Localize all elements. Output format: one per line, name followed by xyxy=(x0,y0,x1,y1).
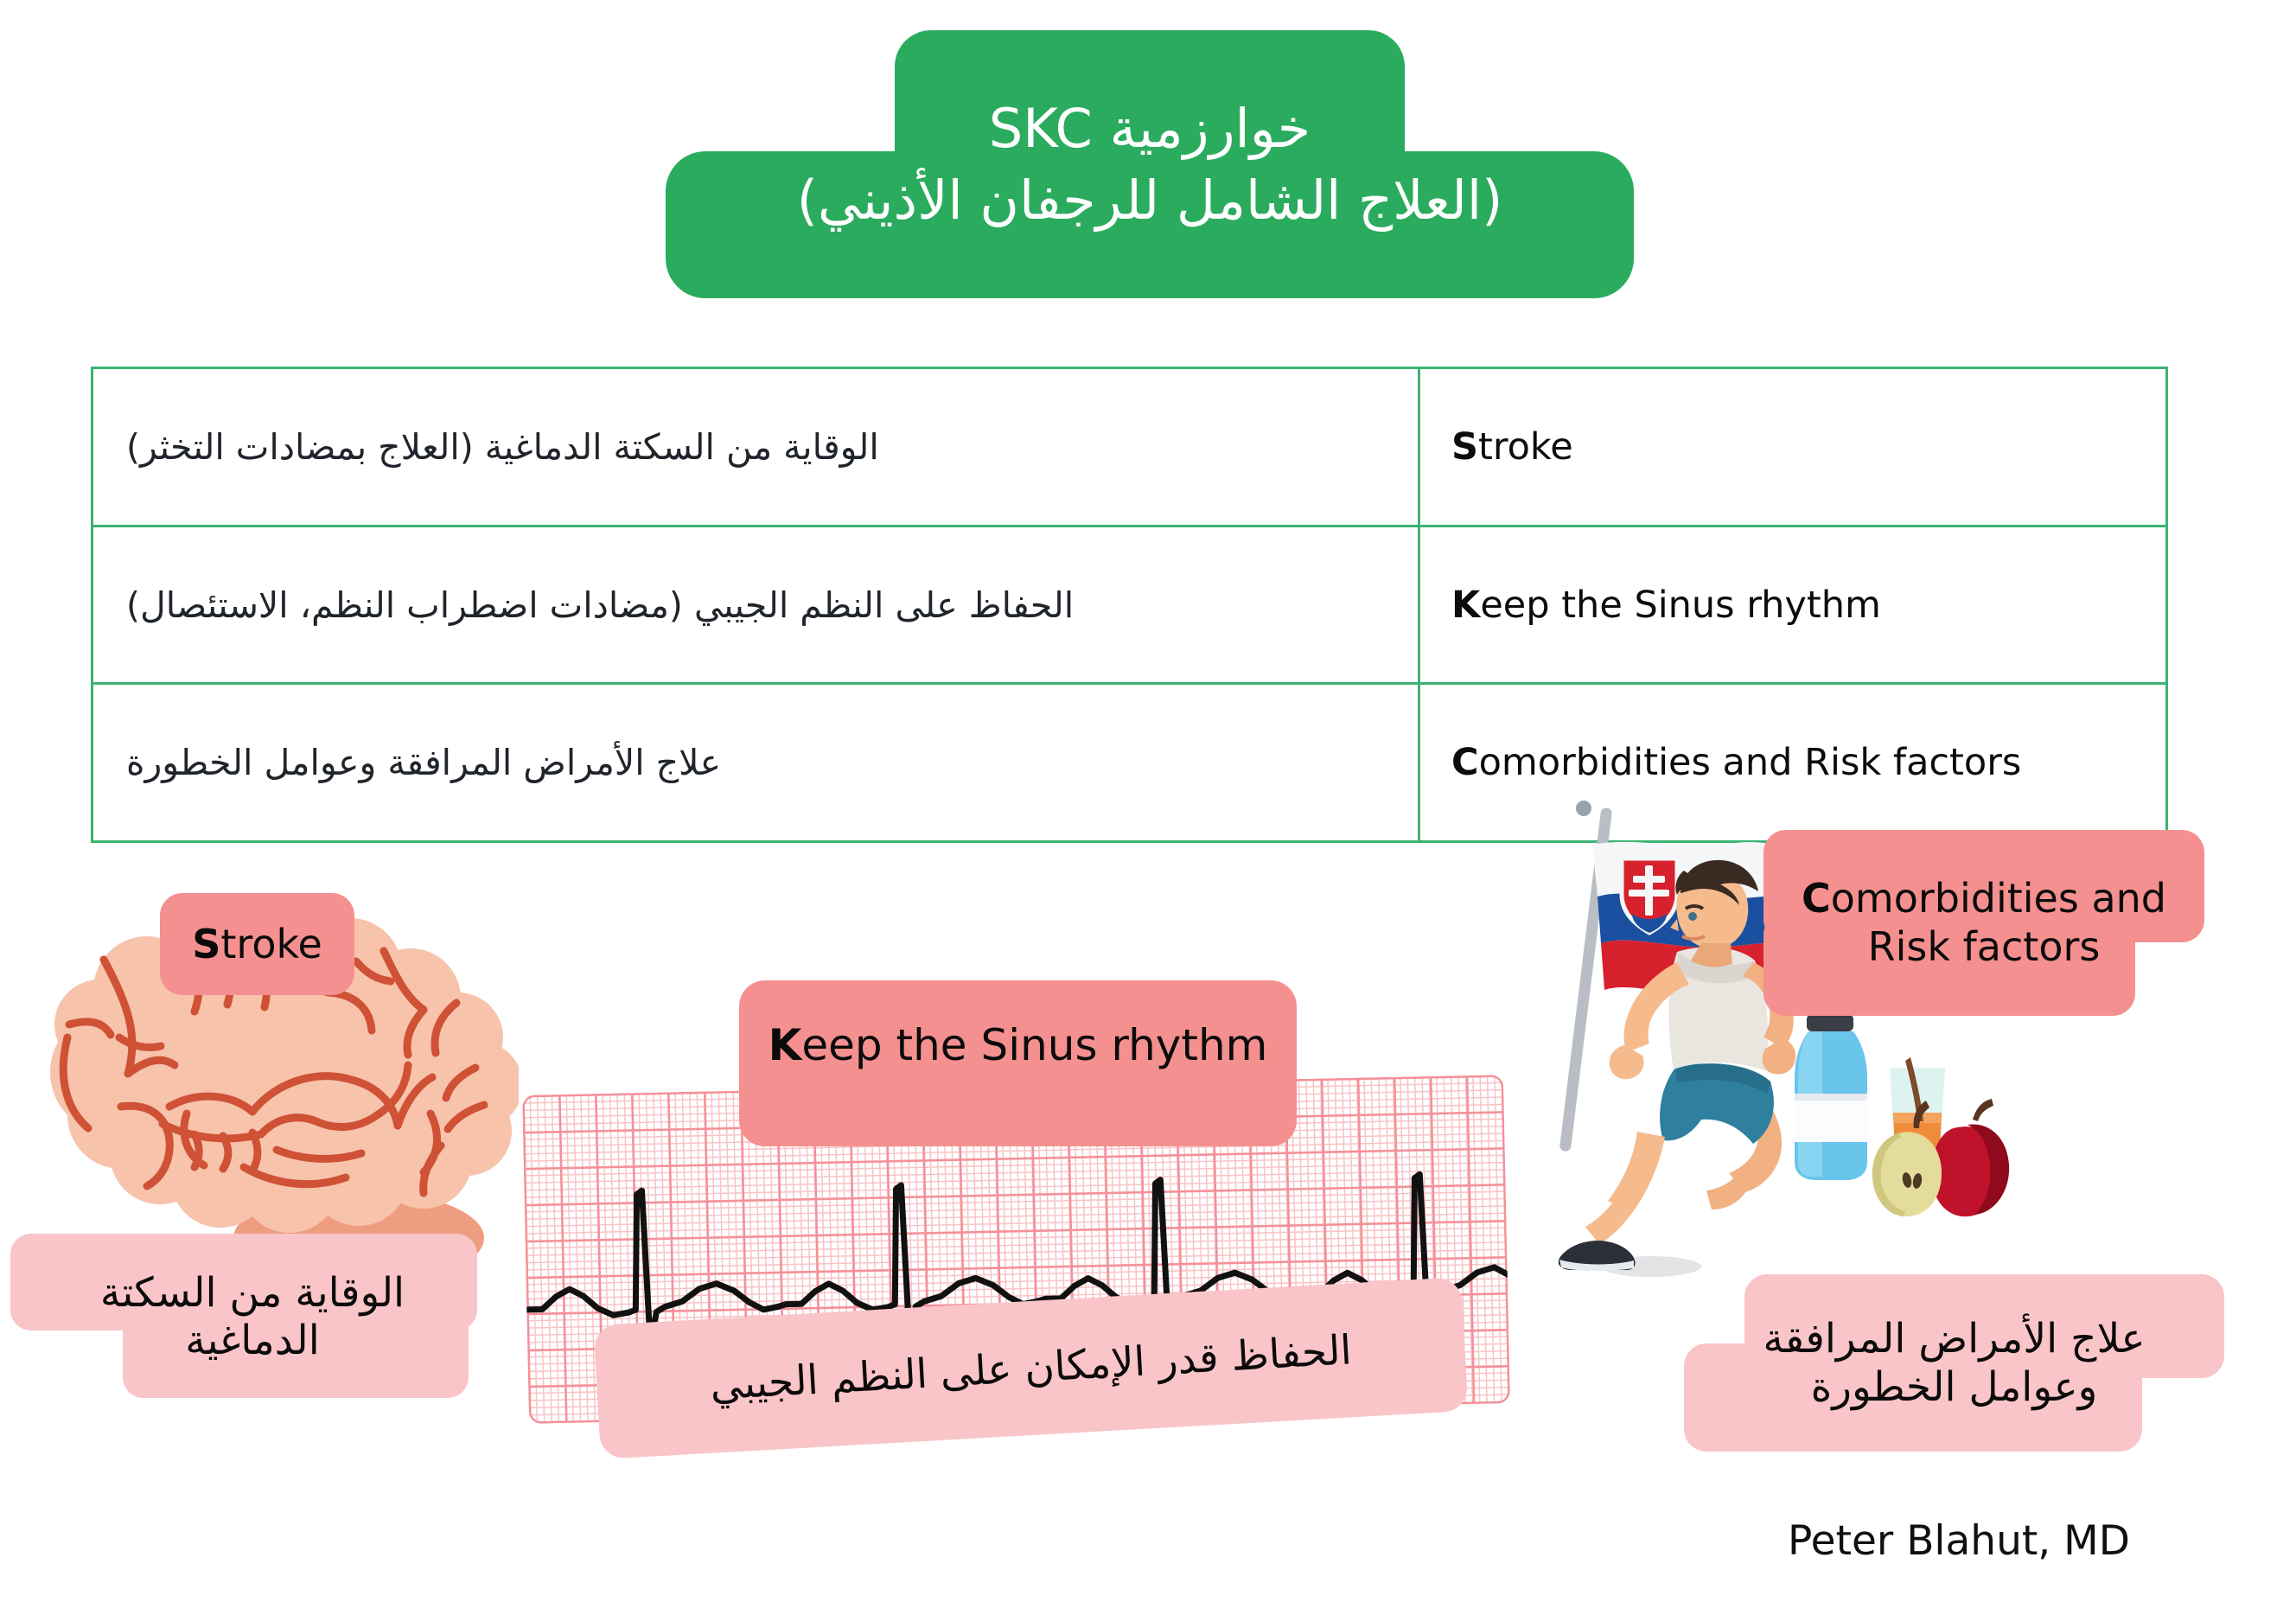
caption-text: الوقاية من السكتة الدماغية xyxy=(10,1234,494,1400)
table-cell-english: Stroke xyxy=(1420,369,2165,525)
table-cell-english-initial: C xyxy=(1451,741,1479,784)
badge-label: Stroke xyxy=(160,893,354,995)
caption-text: علاج الأمراض المرافقة وعوامل الخطورة xyxy=(1684,1274,2224,1452)
skc-legend-table: الوقاية من السكتة الدماغية (العلاج بمضاد… xyxy=(91,367,2168,843)
badge-line1: Comorbidities and xyxy=(1802,875,2166,922)
poster-canvas: خوارزمية SKC (العلاج الشامل للرجفان الأذ… xyxy=(0,0,2296,1621)
caption-line2: الدماغية xyxy=(185,1317,320,1364)
author-signature: Peter Blahut, MD xyxy=(1788,1517,2130,1565)
caption-stroke-arabic: الوقاية من السكتة الدماغية xyxy=(10,1234,494,1400)
caption-comorbidities-arabic: علاج الأمراض المرافقة وعوامل الخطورة xyxy=(1684,1274,2224,1452)
banner-text-block: خوارزمية SKC (العلاج الشامل للرجفان الأذ… xyxy=(666,30,1634,298)
table-cell-english: Keep the Sinus rhythm xyxy=(1420,527,2165,683)
badge-rest: troke xyxy=(220,921,322,967)
status-badge-sinus: Keep the Sinus rhythm xyxy=(739,980,1297,1146)
page-title-line2: (العلاج الشامل للرجفان الأذيني) xyxy=(797,167,1503,234)
table-cell-arabic: علاج الأمراض المرافقة وعوامل الخطورة xyxy=(93,685,1420,840)
badge-label: Comorbidities and Risk factors xyxy=(1763,830,2204,1016)
badge-rest: omorbidities and xyxy=(1831,875,2166,922)
caption-line2: وعوامل الخطورة xyxy=(1811,1363,2098,1411)
badge-rest: eep the Sinus rhythm xyxy=(801,1020,1267,1070)
table-cell-english-rest: eep the Sinus rhythm xyxy=(1480,584,1881,627)
badge-initial: S xyxy=(192,921,220,967)
caption-line1: الوقاية من السكتة xyxy=(100,1269,405,1317)
badge-label: Keep the Sinus rhythm xyxy=(739,980,1297,1110)
table-cell-arabic: الحفاظ على النظم الجيبي (مضادات اضطراب ا… xyxy=(93,527,1420,683)
status-badge-stroke: Stroke xyxy=(160,893,354,995)
table-row: الوقاية من السكتة الدماغية (العلاج بمضاد… xyxy=(93,369,2165,527)
table-cell-english-initial: S xyxy=(1451,425,1478,469)
table-cell-english-rest: troke xyxy=(1478,425,1573,469)
table-cell-english-rest: omorbidities and Risk factors xyxy=(1479,741,2022,784)
status-badge-comorbidities: Comorbidities and Risk factors xyxy=(1763,830,2204,1016)
table-cell-arabic: الوقاية من السكتة الدماغية (العلاج بمضاد… xyxy=(93,369,1420,525)
table-cell-english-initial: K xyxy=(1451,584,1480,627)
badge-line2: Risk factors xyxy=(1868,923,2101,971)
poster-title-banner: خوارزمية SKC (العلاج الشامل للرجفان الأذ… xyxy=(666,30,1634,298)
caption-line1: علاج الأمراض المرافقة xyxy=(1763,1315,2145,1363)
table-row: الحفاظ على النظم الجيبي (مضادات اضطراب ا… xyxy=(93,527,2165,686)
badge-initial: K xyxy=(769,1020,802,1070)
badge-initial: C xyxy=(1802,875,1831,922)
page-title-line1: خوارزمية SKC xyxy=(989,95,1311,163)
